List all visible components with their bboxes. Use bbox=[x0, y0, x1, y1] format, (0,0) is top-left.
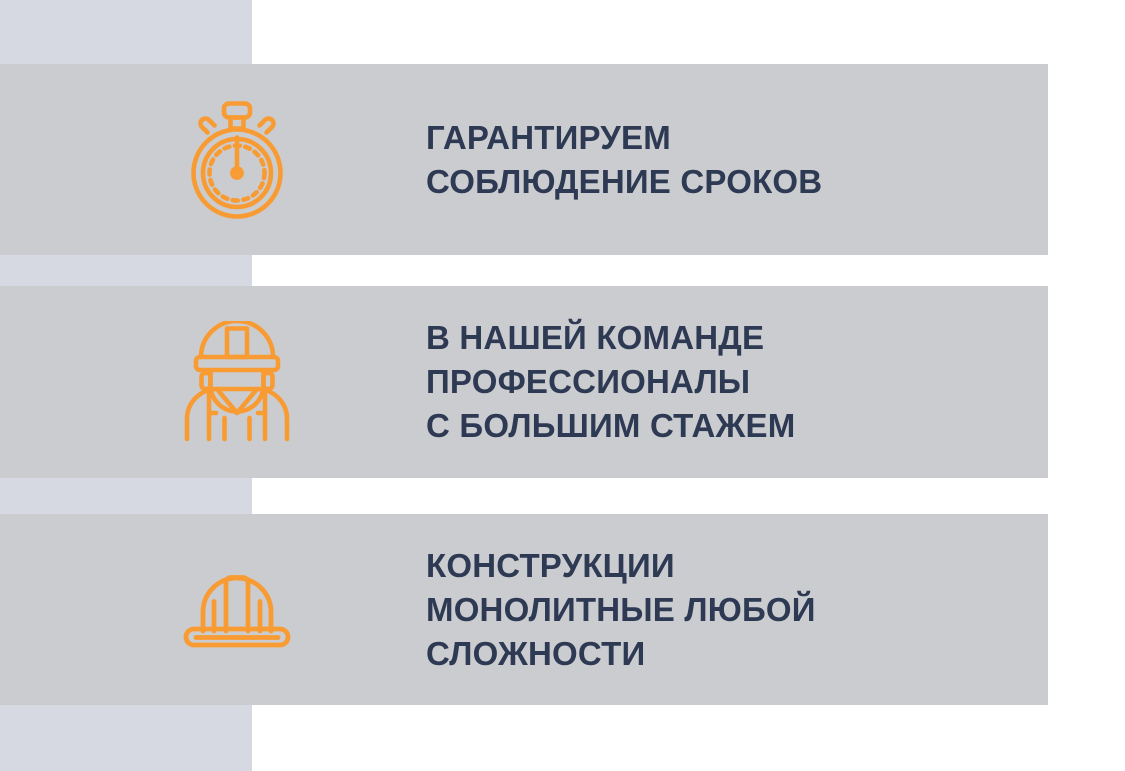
hard-hat-icon bbox=[0, 567, 426, 653]
feature-card-deadlines: ГАРАНТИРУЕМ СОБЛЮДЕНИЕ СРОКОВ bbox=[0, 64, 1048, 255]
feature-title: КОНСТРУКЦИИ МОНОЛИТНЫЕ ЛЮБОЙ СЛОЖНОСТИ bbox=[426, 544, 816, 676]
stopwatch-icon bbox=[0, 101, 426, 219]
feature-card-team: В НАШЕЙ КОМАНДЕ ПРОФЕССИОНАЛЫ С БОЛЬШИМ … bbox=[0, 286, 1048, 478]
construction-worker-icon bbox=[0, 321, 426, 443]
feature-card-structures: КОНСТРУКЦИИ МОНОЛИТНЫЕ ЛЮБОЙ СЛОЖНОСТИ bbox=[0, 514, 1048, 705]
feature-title: В НАШЕЙ КОМАНДЕ ПРОФЕССИОНАЛЫ С БОЛЬШИМ … bbox=[426, 316, 795, 448]
feature-title: ГАРАНТИРУЕМ СОБЛЮДЕНИЕ СРОКОВ bbox=[426, 116, 822, 204]
